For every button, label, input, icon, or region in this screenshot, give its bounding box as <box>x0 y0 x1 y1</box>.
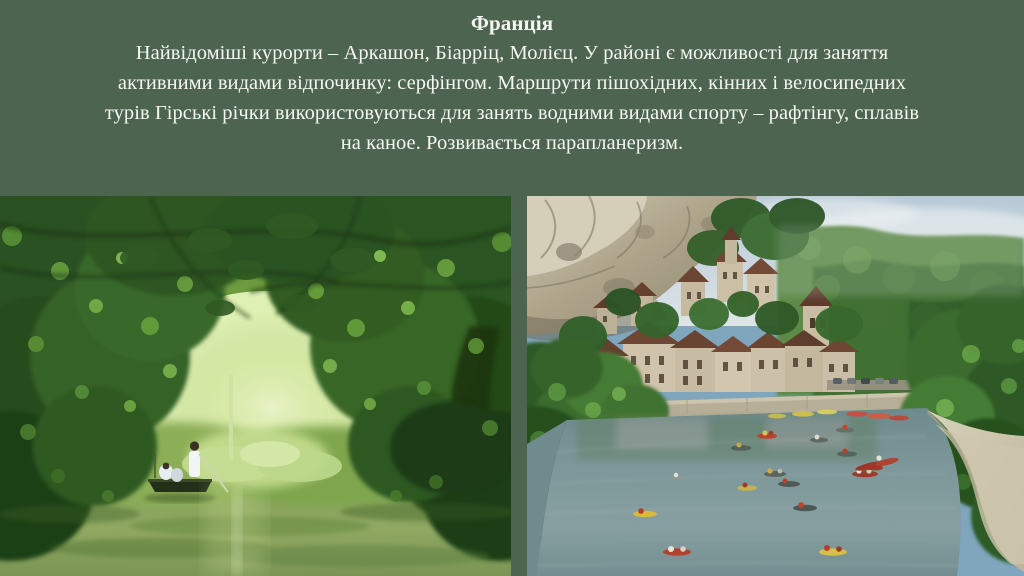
presentation-slide: Франція Найвідоміші курорти – Аркашон, Б… <box>0 0 1024 576</box>
slide-body-text: Найвідоміші курорти – Аркашон, Біарріц, … <box>14 38 1010 158</box>
body-line-3: турів Гірські річки використовуються для… <box>14 98 1010 128</box>
photo-river-boat <box>0 196 511 576</box>
page-title: Франція <box>14 8 1010 38</box>
cliff-village-illustration <box>527 196 1024 576</box>
slide-text-band: Франція Найвідоміші курорти – Аркашон, Б… <box>0 0 1024 196</box>
body-line-4: на каное. Розвивається парапланеризм. <box>14 128 1010 158</box>
photo-cliff-village-river <box>527 196 1024 576</box>
body-line-1: Найвідоміші курорти – Аркашон, Біарріц, … <box>14 38 1010 68</box>
river-boat-illustration <box>0 196 511 576</box>
photo-strip <box>0 196 1024 576</box>
photo-cliff-village-canvas <box>527 196 1024 576</box>
photo-river-boat-canvas <box>0 196 511 576</box>
body-line-2: активними видами відпочинку: серфінгом. … <box>14 68 1010 98</box>
